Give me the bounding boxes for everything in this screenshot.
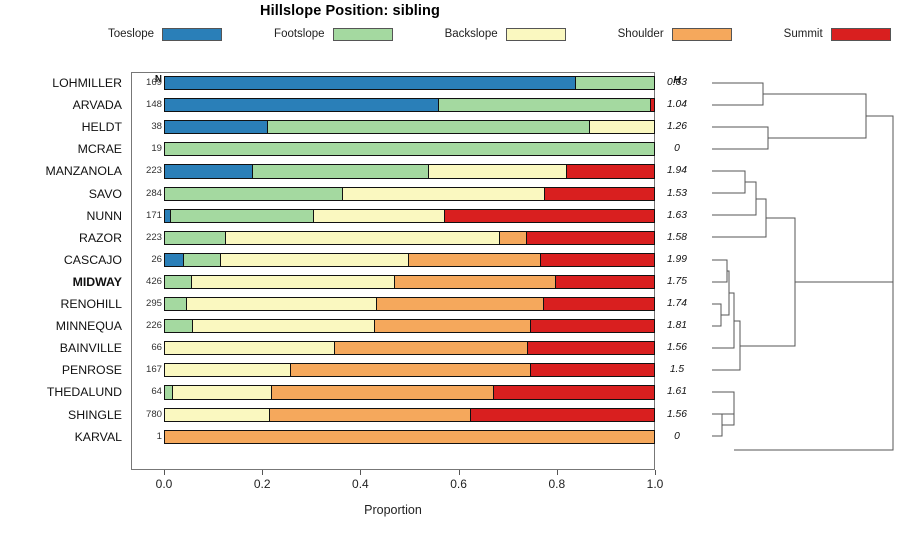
- dendro-link-heldt-mcrae: [712, 127, 768, 149]
- row-entropy: 1.81: [660, 315, 694, 337]
- dendro-link-cascajo-midway: [712, 260, 727, 282]
- row-label-minnequa: MINNEQUA: [0, 315, 122, 337]
- legend-swatch: [333, 28, 393, 41]
- stacked-bar: [164, 120, 655, 134]
- row-count: 19: [134, 138, 162, 160]
- row-count: 1: [134, 426, 162, 448]
- axis-tick-label: 0.6: [450, 477, 467, 491]
- row-entropy: 0.63: [660, 72, 694, 94]
- dendro-link-lohmiller-arvada: [712, 83, 763, 105]
- row-label-mcrae: MCRAE: [0, 138, 122, 160]
- legend-item-shoulder: Shoulder: [618, 28, 732, 41]
- row-label-karval: KARVAL: [0, 426, 122, 448]
- bar-segment-summit: [531, 320, 654, 332]
- axis-tick: [557, 470, 558, 475]
- row-count: 169: [134, 72, 162, 94]
- row-entropy: 1.53: [660, 183, 694, 205]
- bar-segment-footslope: [165, 298, 187, 310]
- row-label-midway: MIDWAY: [0, 271, 122, 293]
- legend-swatch: [672, 28, 732, 41]
- bar-segment-footslope: [439, 99, 650, 111]
- bar-segment-footslope: [165, 143, 654, 155]
- legend-label: Footslope: [274, 28, 325, 40]
- legend-item-footslope: Footslope: [274, 28, 393, 41]
- row-label-razor: RAZOR: [0, 227, 122, 249]
- row-label-thedalund: THEDALUND: [0, 381, 122, 403]
- row-count: 26: [134, 249, 162, 271]
- axis-tick-label: 0.8: [548, 477, 565, 491]
- axis-tick-label: 1.0: [647, 477, 664, 491]
- dendro-link-msnr: [712, 199, 766, 237]
- stacked-bar: [164, 430, 655, 444]
- row-label-lohmiller: LOHMILLER: [0, 72, 122, 94]
- legend-item-toeslope: Toeslope: [108, 28, 222, 41]
- row-entropy: 0: [660, 426, 694, 448]
- stacked-bar: [164, 253, 655, 267]
- legend-item-summit: Summit: [784, 28, 891, 41]
- x-axis-title: Proportion: [131, 503, 655, 517]
- row-count: 167: [134, 359, 162, 381]
- dendro-link-shingle-karval: [712, 414, 722, 436]
- row-label-arvada: ARVADA: [0, 94, 122, 116]
- bar-segment-backslope: [226, 232, 500, 244]
- dendro-link-renohill-minnequa: [712, 304, 721, 326]
- row-label-savo: SAVO: [0, 183, 122, 205]
- dendro-link-msn: [712, 182, 756, 215]
- bar-segment-footslope: [576, 77, 654, 89]
- dendro-link-cmrmb: [712, 293, 734, 348]
- bar-segment-backslope: [343, 188, 546, 200]
- stacked-bar: [164, 341, 655, 355]
- legend-label: Backslope: [445, 28, 498, 40]
- stacked-bar: [164, 164, 655, 178]
- bar-segment-backslope: [165, 409, 270, 421]
- bar-segment-backslope: [165, 342, 335, 354]
- bar-segment-footslope: [171, 210, 314, 222]
- bar-segment-summit: [651, 99, 654, 111]
- stacked-bar: [164, 231, 655, 245]
- axis-tick: [164, 470, 165, 475]
- bar-segment-footslope: [165, 188, 343, 200]
- legend-swatch: [162, 28, 222, 41]
- row-entropy: 1.5: [660, 359, 694, 381]
- stacked-bar: [164, 76, 655, 90]
- bar-segment-backslope: [314, 210, 445, 222]
- stacked-bar: [164, 297, 655, 311]
- legend: ToeslopeFootslopeBackslopeShoulderSummit: [108, 25, 668, 43]
- axis-tick: [655, 470, 656, 475]
- stacked-bar: [164, 142, 655, 156]
- row-entropy: 1.74: [660, 293, 694, 315]
- bar-segment-shoulder: [395, 276, 556, 288]
- row-entropy: 1.94: [660, 160, 694, 182]
- stacked-bar: [164, 98, 655, 112]
- bar-segment-summit: [541, 254, 654, 266]
- axis-tick: [360, 470, 361, 475]
- row-count: 38: [134, 116, 162, 138]
- bar-segment-backslope: [173, 386, 272, 398]
- bar-segment-shoulder: [377, 298, 544, 310]
- stacked-bar: [164, 209, 655, 223]
- bar-segment-summit: [531, 364, 654, 376]
- bar-segment-summit: [471, 409, 654, 421]
- dendrogram: [700, 70, 900, 480]
- bar-segment-toeslope: [165, 99, 439, 111]
- legend-label: Summit: [784, 28, 823, 40]
- stacked-bar: [164, 187, 655, 201]
- row-label-nunn: NUNN: [0, 205, 122, 227]
- bar-segment-footslope: [165, 232, 226, 244]
- row-count: 780: [134, 404, 162, 426]
- row-entropy: 1.75: [660, 271, 694, 293]
- bar-segment-shoulder: [409, 254, 541, 266]
- row-entropy: 1.58: [660, 227, 694, 249]
- stacked-bar: [164, 275, 655, 289]
- bar-segment-summit: [494, 386, 654, 398]
- row-entropy: 1.63: [660, 205, 694, 227]
- bar-segment-backslope: [429, 165, 567, 177]
- bar-segment-backslope: [187, 298, 378, 310]
- row-count: 64: [134, 381, 162, 403]
- row-entropy: 1.61: [660, 381, 694, 403]
- dendro-link-thedalund-shingle: [712, 392, 734, 414]
- legend-label: Shoulder: [618, 28, 664, 40]
- row-label-penrose: PENROSE: [0, 359, 122, 381]
- row-count: 223: [134, 160, 162, 182]
- bar-segment-footslope: [165, 320, 193, 332]
- bar-segment-footslope: [165, 276, 192, 288]
- axis-tick-label: 0.2: [254, 477, 271, 491]
- row-entropy: 1.56: [660, 404, 694, 426]
- axis-tick-label: 0.0: [156, 477, 173, 491]
- legend-swatch: [831, 28, 891, 41]
- dendro-link-top-mid: [795, 116, 893, 282]
- row-count: 66: [134, 337, 162, 359]
- legend-item-backslope: Backslope: [445, 28, 566, 41]
- legend-label: Toeslope: [108, 28, 154, 40]
- axis-tick: [459, 470, 460, 475]
- row-entropy: 1.04: [660, 94, 694, 116]
- stacked-bar: [164, 363, 655, 377]
- stacked-bar: [164, 319, 655, 333]
- dendro-link-manzanola-savo: [712, 171, 745, 193]
- row-count: 284: [134, 183, 162, 205]
- bar-segment-shoulder: [375, 320, 531, 332]
- bar-segment-summit: [556, 276, 654, 288]
- row-count: 223: [134, 227, 162, 249]
- bar-segment-summit: [544, 298, 654, 310]
- row-count: 226: [134, 315, 162, 337]
- bar-segment-summit: [528, 342, 654, 354]
- bar-segment-shoulder: [291, 364, 531, 376]
- row-label-shingle: SHINGLE: [0, 404, 122, 426]
- bar-segment-toeslope: [165, 165, 253, 177]
- stacked-bar: [164, 385, 655, 399]
- row-entropy: 1.99: [660, 249, 694, 271]
- bar-segment-backslope: [193, 320, 375, 332]
- bar-segment-footslope: [253, 165, 430, 177]
- bar-segment-backslope: [192, 276, 395, 288]
- bar-segment-summit: [567, 165, 654, 177]
- bar-segment-toeslope: [165, 254, 184, 266]
- bar-segment-footslope: [268, 121, 590, 133]
- bar-segment-shoulder: [272, 386, 494, 398]
- row-count: 295: [134, 293, 162, 315]
- page-title: Hillslope Position: sibling: [0, 3, 700, 19]
- bar-segment-shoulder: [165, 431, 654, 443]
- bar-segment-shoulder: [335, 342, 528, 354]
- axis-tick: [262, 470, 263, 475]
- row-entropy: 1.56: [660, 337, 694, 359]
- bar-segment-backslope: [590, 121, 654, 133]
- row-label-manzanola: MANZANOLA: [0, 160, 122, 182]
- dendro-link-ab: [763, 94, 866, 138]
- row-entropy: 1.26: [660, 116, 694, 138]
- bar-segment-summit: [545, 188, 654, 200]
- dendrogram-svg: [700, 70, 900, 480]
- row-label-heldt: HELDT: [0, 116, 122, 138]
- stacked-bar: [164, 408, 655, 422]
- bar-segment-backslope: [221, 254, 409, 266]
- dendro-link-cmrmbp: [712, 321, 740, 370]
- bar-segment-summit: [445, 210, 654, 222]
- legend-swatch: [506, 28, 566, 41]
- axis-tick-label: 0.4: [352, 477, 369, 491]
- row-entropy: 0: [660, 138, 694, 160]
- row-label-renohill: RENOHILL: [0, 293, 122, 315]
- bar-segment-footslope: [165, 386, 173, 398]
- row-count: 426: [134, 271, 162, 293]
- bar-segment-summit: [527, 232, 654, 244]
- bar-segment-footslope: [184, 254, 222, 266]
- bar-segment-shoulder: [500, 232, 526, 244]
- row-label-cascajo: CASCAJO: [0, 249, 122, 271]
- bar-segment-backslope: [165, 364, 291, 376]
- row-count: 171: [134, 205, 162, 227]
- bar-segment-toeslope: [165, 77, 576, 89]
- row-count: 148: [134, 94, 162, 116]
- bar-segment-shoulder: [270, 409, 470, 421]
- bar-segment-toeslope: [165, 121, 268, 133]
- row-label-bainville: BAINVILLE: [0, 337, 122, 359]
